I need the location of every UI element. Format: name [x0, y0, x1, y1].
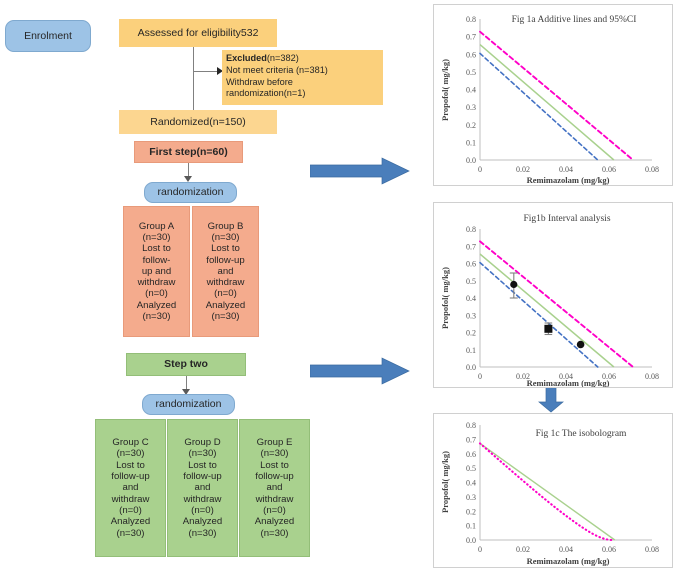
fig1b-datapoint-1: [510, 281, 517, 288]
fig1a-ytick-3: 0.3: [466, 103, 476, 112]
fig1b-ytick-3: 0.3: [466, 311, 476, 320]
fig1c-ytick-8: 0.8: [466, 421, 476, 430]
fig1b-title: Fig1b Interval analysis: [523, 214, 610, 224]
fig1c-ytick-7: 0.7: [466, 435, 476, 444]
fig1c-ytick-6: 0.6: [466, 450, 476, 459]
fig1a-ytick-8: 0.8: [466, 15, 476, 24]
fig1a-ytick-2: 0.2: [466, 121, 476, 130]
fig1c-ytick-4: 0.4: [466, 479, 476, 488]
fig1b-datapoint-2: [544, 325, 552, 333]
excluded-heading-count: (n=382): [267, 53, 299, 63]
fig1a-xtick-4: 0.08: [645, 165, 659, 174]
fig1a-series-lower-ci: [480, 53, 598, 160]
fig1c-series-additive: [480, 443, 615, 540]
fig1c-panel: Fig 1c The isobologram 0.0 0.1 0.2 0.3 0…: [433, 413, 673, 568]
fig1b-datapoint-3: [577, 341, 585, 349]
fig1b-series-upper-ci: [480, 241, 633, 367]
excluded-line-3: Withdraw before: [226, 77, 381, 89]
group-a-box: Group A (n=30) Lost to follow- up and wi…: [123, 206, 190, 337]
fig1c-ytick-3: 0.3: [466, 493, 476, 502]
fig1c-xtick-2: 0.04: [559, 545, 573, 554]
fig1a-ytick-4: 0.4: [466, 86, 476, 95]
fig1b-ylabel: Propofol( mg/kg): [440, 267, 450, 329]
connector-assessed-to-randomized: [193, 47, 194, 110]
assessed-for-eligibility-box: Assessed for eligibility532: [119, 19, 277, 47]
fig1a-xtick-0: 0: [478, 165, 482, 174]
fig1b-ytick-2: 0.2: [466, 329, 476, 338]
fig1b-xtick-4: 0.08: [645, 372, 659, 381]
randomized-box: Randomized(n=150): [119, 110, 277, 134]
fig1c-ytick-0: 0.0: [466, 536, 476, 545]
fig1c-svg: Fig 1c The isobologram 0.0 0.1 0.2 0.3 0…: [434, 414, 672, 567]
fig1c-xtick-4: 0.08: [645, 545, 659, 554]
fig1c-xtick-0: 0: [478, 545, 482, 554]
fig1a-xtick-1: 0.02: [516, 165, 530, 174]
fig1a-title: Fig 1a Additive lines and 95%CI: [512, 15, 637, 25]
fig1c-ytick-2: 0.2: [466, 507, 476, 516]
block-arrow-to-fig1a: [310, 157, 410, 185]
fig1b-ytick-8: 0.8: [466, 225, 476, 234]
fig1c-title: Fig 1c The isobologram: [536, 429, 627, 439]
fig1a-panel: Fig 1a Additive lines and 95%CI 0.0 0.1 …: [433, 4, 673, 186]
first-step-box: First step(n=60): [134, 141, 243, 163]
fig1b-series-lower-ci: [480, 263, 598, 367]
fig1c-xlabel: Remimazolam (mg/kg): [527, 556, 610, 566]
fig1b-ytick-5: 0.5: [466, 277, 476, 286]
excluded-line-4: randomization(n=1): [226, 88, 381, 100]
fig1a-xtick-3: 0.06: [602, 165, 616, 174]
fig1c-ytick-5: 0.5: [466, 464, 476, 473]
fig1b-ytick-0: 0.0: [466, 363, 476, 372]
fig1b-series-additive: [480, 254, 614, 367]
randomization-box-2: randomization: [142, 394, 235, 415]
fig1b-xlabel: Remimazolam (mg/kg): [527, 378, 610, 387]
fig1c-ytick-1: 0.1: [466, 522, 476, 531]
fig1a-ytick-6: 0.6: [466, 50, 476, 59]
fig1a-ytick-1: 0.1: [466, 138, 476, 147]
fig1b-panel: Fig1b Interval analysis 0.0 0.1 0.2 0.3 …: [433, 202, 673, 388]
fig1a-series-upper-ci: [480, 32, 633, 160]
randomization-box-1: randomization: [144, 182, 237, 203]
fig1b-ytick-6: 0.6: [466, 260, 476, 269]
excluded-line-2: Not meet criteria (n=381): [226, 65, 381, 77]
fig1a-xlabel: Remimazolam (mg/kg): [527, 175, 610, 185]
fig1b-ytick-1: 0.1: [466, 346, 476, 355]
fig1a-ylabel: Propofol( mg/kg): [440, 59, 450, 121]
group-b-box: Group B (n=30) Lost to follow-up and wit…: [192, 206, 259, 337]
group-c-box: Group C (n=30) Lost to follow-up and wit…: [95, 419, 166, 557]
step-two-box: Step two: [126, 353, 246, 376]
group-d-box: Group D (n=30) Lost to follow-up and wit…: [167, 419, 238, 557]
enrolment-box: Enrolment: [5, 20, 91, 52]
excluded-heading-line: Excluded(n=382): [226, 53, 381, 65]
fig1c-xtick-1: 0.02: [516, 545, 530, 554]
fig1c-xtick-3: 0.06: [602, 545, 616, 554]
fig1b-svg: Fig1b Interval analysis 0.0 0.1 0.2 0.3 …: [434, 203, 672, 387]
fig1b-ytick-7: 0.7: [466, 242, 476, 251]
fig1b-xtick-0: 0: [478, 372, 482, 381]
fig1a-ytick-0: 0.0: [466, 156, 476, 165]
flow-diagram-page: Enrolment Assessed for eligibility532 Ex…: [0, 0, 676, 571]
fig1a-ytick-5: 0.5: [466, 68, 476, 77]
excluded-text-block: Excluded(n=382) Not meet criteria (n=381…: [226, 53, 381, 100]
fig1a-xtick-2: 0.04: [559, 165, 573, 174]
fig1c-ylabel: Propofol( mg/kg): [440, 451, 450, 513]
fig1b-ytick-4: 0.4: [466, 294, 476, 303]
excluded-heading: Excluded: [226, 53, 267, 63]
fig1a-series-additive: [480, 45, 614, 160]
block-arrow-fig1b-to-fig1c: [538, 387, 564, 413]
fig1a-svg: Fig 1a Additive lines and 95%CI 0.0 0.1 …: [434, 5, 672, 185]
connector-to-excluded: [193, 71, 218, 72]
group-e-box: Group E (n=30) Lost to follow-up and wit…: [239, 419, 310, 557]
fig1a-ytick-7: 0.7: [466, 33, 476, 42]
block-arrow-to-fig1b: [310, 357, 410, 385]
